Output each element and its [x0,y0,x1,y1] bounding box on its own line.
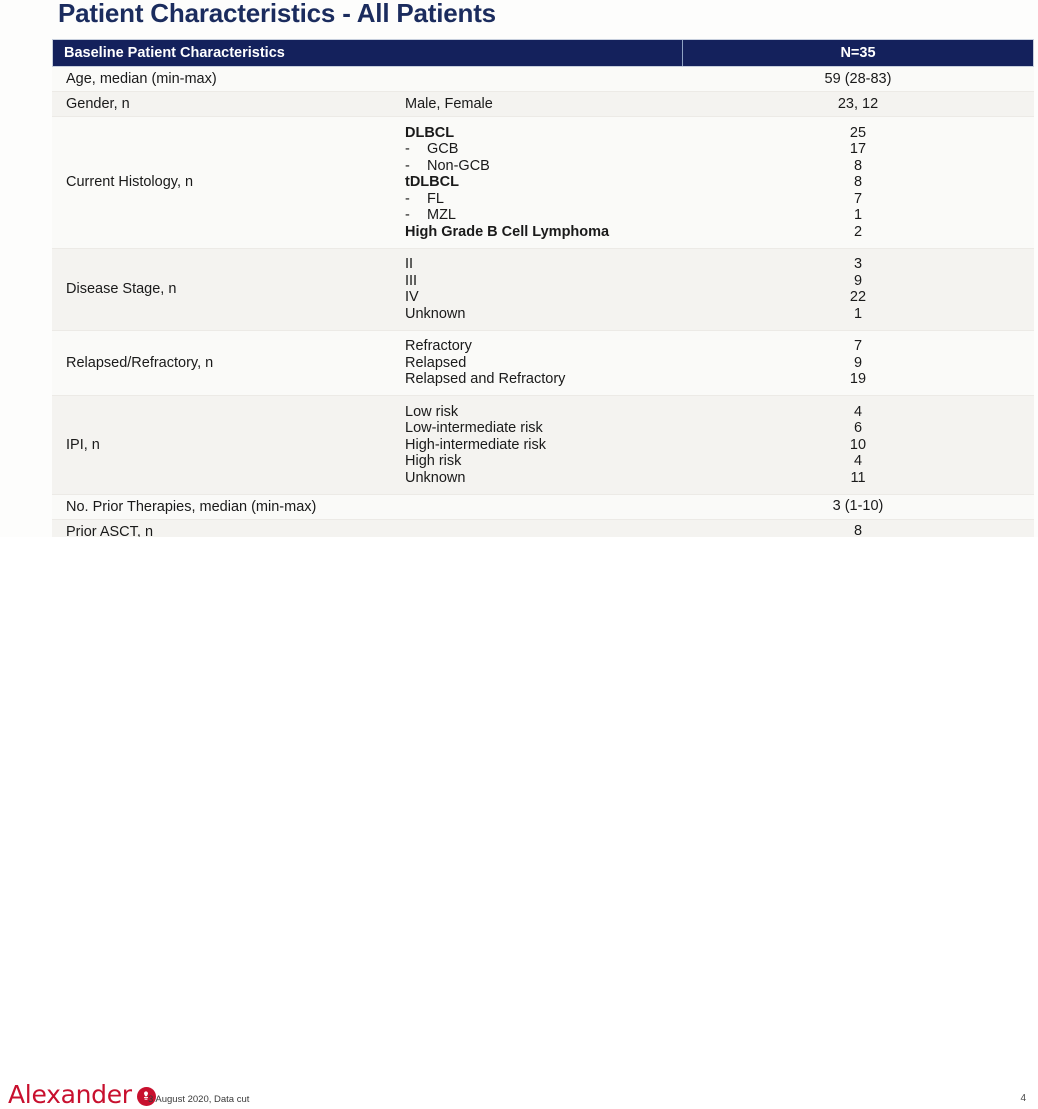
value-cell: 4 [854,404,862,421]
row-values: 59 (28-83) [682,67,1034,91]
value-cell: 7 [854,191,862,208]
subcategory-label: DLBCL [405,125,682,142]
value-cell: 6 [854,420,862,437]
table-header-row: Baseline Patient Characteristics N=35 [52,39,1034,67]
dash-bullet-icon: - [405,141,427,158]
row-subcategories: Male, Female [405,92,682,116]
table-row: No. Prior Therapies, median (min-max)3 (… [52,495,1034,520]
row-values: 39221 [682,249,1034,330]
row-label: Relapsed/Refractory, n [52,331,405,396]
row-subcategories: RefractoryRelapsedRelapsed and Refractor… [405,331,682,396]
subcategory-text: GCB [427,141,458,158]
row-subcategories: DLBCL-GCB-Non-GCBtDLBCL-FL-MZLHigh Grade… [405,117,682,248]
subcategory-label: Relapsed and Refractory [405,371,682,388]
value-cell: 22 [850,289,866,306]
subcategory-label: Unknown [405,470,682,487]
value-cell: 9 [854,273,862,290]
value-cell: 11 [850,470,865,487]
dash-bullet-icon: - [405,191,427,208]
row-label: Disease Stage, n [52,249,405,330]
table-row: Gender, nMale, Female23, 12 [52,92,1034,117]
dash-bullet-icon: - [405,207,427,224]
data-cut-label: 3 August 2020, Data cut [148,1094,249,1105]
subcategory-text: MZL [427,207,456,224]
value-cell: 2 [854,224,862,241]
logo-wordmark: Alexander [8,1080,132,1109]
subcategory-label: Refractory [405,338,682,355]
value-cell: 3 (1-10) [833,498,884,515]
patient-characteristics-table: Baseline Patient Characteristics N=35 Ag… [52,39,1034,570]
row-label: Current Histology, n [52,117,405,248]
subcategory-label: Male, Female [405,96,682,113]
subcategory-label: Low risk [405,404,682,421]
subcategory-label: High-intermediate risk [405,437,682,454]
table-body: Age, median (min-max)59 (28-83)Gender, n… [52,67,1034,570]
subcategory-label: -FL [405,191,682,208]
table-header-characteristics: Baseline Patient Characteristics [53,40,683,66]
value-cell: 17 [850,141,866,158]
value-cell: 7 [854,338,862,355]
row-subcategories [405,495,682,519]
row-values: 3 (1-10) [682,495,1034,519]
table-row: IPI, nLow riskLow-intermediate riskHigh-… [52,396,1034,495]
slide-footer: Alexander 3 August 2020, Data cut 4 [0,537,1038,595]
subcategory-label: IV [405,289,682,306]
row-label: Gender, n [52,92,405,116]
row-subcategories: Low riskLow-intermediate riskHigh-interm… [405,396,682,494]
value-cell: 23, 12 [838,96,878,113]
row-subcategories [405,67,682,91]
subcategory-label: -GCB [405,141,682,158]
value-cell: 25 [850,125,866,142]
table-row: Current Histology, nDLBCL-GCB-Non-GCBtDL… [52,117,1034,249]
value-cell: 1 [854,207,862,224]
table-header-n-total: N=35 [683,40,1033,66]
row-label: No. Prior Therapies, median (min-max) [52,495,405,519]
subcategory-label: -Non-GCB [405,158,682,175]
slide-canvas: Patient Characteristics - All Patients B… [0,0,1038,595]
table-row: Age, median (min-max)59 (28-83) [52,67,1034,92]
row-values: 7919 [682,331,1034,396]
value-cell: 59 (28-83) [825,71,892,88]
subcategory-label: High Grade B Cell Lymphoma [405,224,682,241]
row-label: IPI, n [52,396,405,494]
page-number: 4 [1020,1093,1026,1104]
value-cell: 19 [850,371,866,388]
value-cell: 1 [854,306,862,323]
subcategory-label: High risk [405,453,682,470]
table-row: Disease Stage, nIIIIIIVUnknown39221 [52,249,1034,331]
row-values: 23, 12 [682,92,1034,116]
subcategory-label: -MZL [405,207,682,224]
value-cell: 8 [854,174,862,191]
row-label: Age, median (min-max) [52,67,405,91]
value-cell: 3 [854,256,862,273]
subcategory-label: II [405,256,682,273]
subcategory-label: Low-intermediate risk [405,420,682,437]
subcategory-label: Relapsed [405,355,682,372]
value-cell: 8 [854,158,862,175]
subcategory-text: FL [427,191,444,208]
subcategory-label: Unknown [405,306,682,323]
row-values: 4610411 [682,396,1034,494]
alexander-logo: Alexander [8,1080,156,1109]
value-cell: 4 [854,453,862,470]
subcategory-label: tDLBCL [405,174,682,191]
value-cell: 10 [850,437,866,454]
page-title: Patient Characteristics - All Patients [58,0,496,29]
table-row: Relapsed/Refractory, nRefractoryRelapsed… [52,331,1034,397]
row-values: 251788712 [682,117,1034,248]
value-cell: 9 [854,355,862,372]
row-subcategories: IIIIIIVUnknown [405,249,682,330]
dash-bullet-icon: - [405,158,427,175]
subcategory-label: III [405,273,682,290]
subcategory-text: Non-GCB [427,158,490,175]
